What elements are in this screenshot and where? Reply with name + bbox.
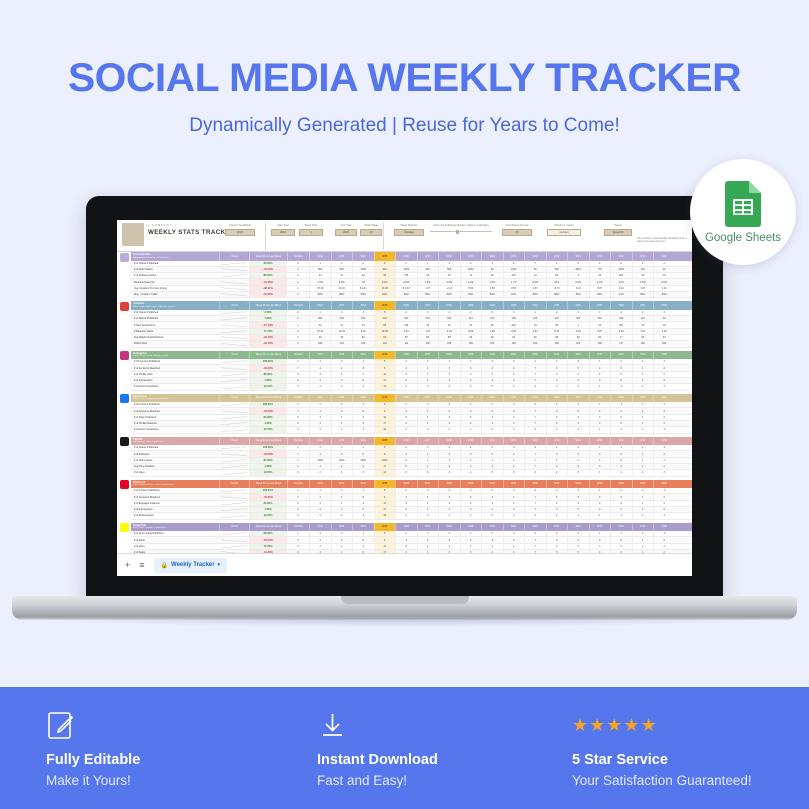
- col-header-week[interactable]: W34: [352, 394, 374, 403]
- row-week-cell[interactable]: 140: [352, 341, 374, 346]
- row-week-cell[interactable]: 3: [460, 421, 482, 426]
- row-week-cell[interactable]: 8.0%: [653, 279, 675, 284]
- row-week-cell[interactable]: 3: [460, 537, 482, 542]
- row-week-cell[interactable]: 840: [503, 273, 525, 278]
- row-week-cell[interactable]: 3: [653, 310, 675, 315]
- row-week-cell[interactable]: 1902: [503, 267, 525, 272]
- control-prior-curr-colour[interactable]: Prior/Curr Colour Current: [547, 224, 581, 236]
- row-week-cell[interactable]: 2: [331, 507, 353, 512]
- row-week-cell[interactable]: -8.73: [546, 286, 568, 291]
- row-week-cell[interactable]: 5: [481, 445, 503, 450]
- row-week-cell[interactable]: 3.10: [567, 286, 589, 291]
- row-week-cell[interactable]: 8.53: [503, 329, 525, 334]
- row-week-cell[interactable]: 80: [632, 335, 654, 340]
- row-week-cell[interactable]: 1: [352, 445, 374, 450]
- row-week-cell[interactable]: 119: [546, 316, 568, 321]
- row-week-cell[interactable]: 1: [417, 378, 439, 383]
- row-week-cell[interactable]: 5: [374, 402, 396, 407]
- row-week-cell[interactable]: 4: [610, 445, 632, 450]
- row-week-cell[interactable]: 7: [524, 451, 546, 456]
- row-week-cell[interactable]: 2: [331, 421, 353, 426]
- row-week-cell[interactable]: 4: [309, 421, 331, 426]
- col-header-week[interactable]: W35: [374, 523, 396, 532]
- col-header-week[interactable]: W40: [481, 351, 503, 360]
- row-week-cell[interactable]: 4: [610, 402, 632, 407]
- row-week-cell[interactable]: 8: [395, 501, 417, 506]
- row-week-cell[interactable]: 40: [589, 273, 611, 278]
- row-week-cell[interactable]: 2: [632, 384, 654, 389]
- row-week-cell[interactable]: 1: [417, 507, 439, 512]
- row-week-cell[interactable]: 180: [567, 341, 589, 346]
- col-header-week[interactable]: W45: [589, 523, 611, 532]
- row-week-cell[interactable]: 8: [352, 408, 374, 413]
- row-week-cell[interactable]: 7: [524, 458, 546, 463]
- row-week-cell[interactable]: 2054: [610, 267, 632, 272]
- row-week-cell[interactable]: 1: [632, 494, 654, 499]
- row-week-cell[interactable]: 7: [524, 507, 546, 512]
- row-week-cell[interactable]: 4: [438, 513, 460, 518]
- row-week-cell[interactable]: 3: [460, 507, 482, 512]
- row-week-cell[interactable]: 3: [460, 408, 482, 413]
- row-week-cell[interactable]: 2800: [352, 458, 374, 463]
- row-week-cell[interactable]: 3: [653, 488, 675, 493]
- row-week-cell[interactable]: 4: [589, 537, 611, 542]
- row-week-cell[interactable]: 4: [589, 408, 611, 413]
- row-week-cell[interactable]: 1: [309, 537, 331, 542]
- col-header-week[interactable]: W46: [610, 351, 632, 360]
- col-header-week[interactable]: W42: [524, 523, 546, 532]
- col-header-week[interactable]: W36: [395, 394, 417, 403]
- row-week-cell[interactable]: 3: [460, 372, 482, 377]
- col-header-week[interactable]: W48: [653, 480, 675, 489]
- row-week-cell[interactable]: 4: [610, 384, 632, 389]
- row-week-cell[interactable]: 1.37: [417, 286, 439, 291]
- row-week-cell[interactable]: 4: [503, 261, 525, 266]
- row-week-cell[interactable]: 3: [567, 384, 589, 389]
- row-week-cell[interactable]: 4: [589, 507, 611, 512]
- row-week-cell[interactable]: 2: [309, 359, 331, 364]
- row-week-cell[interactable]: 1: [632, 501, 654, 506]
- row-week-cell[interactable]: 2: [460, 445, 482, 450]
- row-week-cell[interactable]: 3: [546, 464, 568, 469]
- row-week-cell[interactable]: 2: [309, 445, 331, 450]
- row-week-cell[interactable]: 3: [460, 464, 482, 469]
- row-week-cell[interactable]: 1: [309, 451, 331, 456]
- row-week-cell[interactable]: 95: [331, 335, 353, 340]
- row-week-cell[interactable]: 4: [567, 273, 589, 278]
- row-week-cell[interactable]: 1: [417, 261, 439, 266]
- row-week-cell[interactable]: 3: [438, 372, 460, 377]
- col-header-week[interactable]: W33: [331, 480, 353, 489]
- row-week-cell[interactable]: 2: [460, 427, 482, 432]
- col-header-week[interactable]: W48: [653, 394, 675, 403]
- row-week-cell[interactable]: 180: [632, 341, 654, 346]
- row-week-cell[interactable]: 9.34: [610, 329, 632, 334]
- col-header-week[interactable]: W40: [481, 252, 503, 261]
- col-header-week[interactable]: W34: [352, 351, 374, 360]
- row-week-cell[interactable]: 4: [610, 310, 632, 315]
- col-header-week[interactable]: W45: [589, 394, 611, 403]
- row-week-cell[interactable]: 2: [395, 513, 417, 518]
- row-week-cell[interactable]: 44: [309, 273, 331, 278]
- row-week-cell[interactable]: 5: [567, 537, 589, 542]
- col-header-week[interactable]: W48: [653, 437, 675, 446]
- row-week-cell[interactable]: 22: [653, 316, 675, 321]
- row-week-cell[interactable]: 3: [309, 544, 331, 549]
- row-week-cell[interactable]: 2: [653, 501, 675, 506]
- row-week-cell[interactable]: 58: [374, 322, 396, 327]
- col-header-week[interactable]: W43: [546, 437, 568, 446]
- col-header-week[interactable]: W38: [438, 394, 460, 403]
- row-week-cell[interactable]: 4: [524, 513, 546, 518]
- col-header-week[interactable]: W41: [503, 351, 525, 360]
- row-week-cell[interactable]: 4: [395, 537, 417, 542]
- row-week-cell[interactable]: 5: [374, 445, 396, 450]
- row-week-cell[interactable]: 2: [653, 372, 675, 377]
- row-week-cell[interactable]: 4: [352, 261, 374, 266]
- row-week-cell[interactable]: 3: [417, 310, 439, 315]
- row-week-cell[interactable]: 4: [438, 384, 460, 389]
- row-week-cell[interactable]: 3: [438, 261, 460, 266]
- col-header-week[interactable]: W35: [374, 351, 396, 360]
- row-week-cell[interactable]: 2: [331, 537, 353, 542]
- row-week-cell[interactable]: 1: [632, 421, 654, 426]
- row-week-cell[interactable]: 3: [309, 372, 331, 377]
- row-week-cell[interactable]: 4: [481, 458, 503, 463]
- row-week-cell[interactable]: 80%: [395, 292, 417, 297]
- col-header-week[interactable]: W44: [567, 437, 589, 446]
- row-week-cell[interactable]: 4: [503, 501, 525, 506]
- row-week-cell[interactable]: 3: [503, 470, 525, 475]
- row-week-cell[interactable]: 3: [460, 544, 482, 549]
- row-week-cell[interactable]: 4: [395, 365, 417, 370]
- row-week-cell[interactable]: 1: [632, 507, 654, 512]
- col-header-week[interactable]: W34: [352, 301, 374, 310]
- row-week-cell[interactable]: 80%: [632, 292, 654, 297]
- row-week-cell[interactable]: 8.0%: [331, 279, 353, 284]
- row-week-cell[interactable]: 8: [395, 458, 417, 463]
- row-week-cell[interactable]: 208: [503, 316, 525, 321]
- row-week-cell[interactable]: 84: [653, 335, 675, 340]
- row-week-cell[interactable]: 1.5%: [632, 279, 654, 284]
- col-header-week[interactable]: W36: [395, 301, 417, 310]
- row-week-cell[interactable]: 145: [417, 341, 439, 346]
- row-week-cell[interactable]: 1: [417, 458, 439, 463]
- row-week-cell[interactable]: 4: [331, 470, 353, 475]
- row-week-cell[interactable]: 2: [460, 310, 482, 315]
- row-week-cell[interactable]: 1: [352, 488, 374, 493]
- row-week-cell[interactable]: 80: [395, 335, 417, 340]
- row-week-cell[interactable]: 3: [331, 488, 353, 493]
- col-header-week[interactable]: W47: [632, 394, 654, 403]
- row-week-cell[interactable]: 4: [309, 507, 331, 512]
- row-week-cell[interactable]: 2: [460, 470, 482, 475]
- row-week-cell[interactable]: 3: [503, 384, 525, 389]
- col-header-week[interactable]: W39: [460, 480, 482, 489]
- col-header-week[interactable]: W47: [632, 437, 654, 446]
- row-week-cell[interactable]: 89%: [309, 292, 331, 297]
- col-header-week[interactable]: W33: [331, 301, 353, 310]
- row-week-cell[interactable]: 2: [309, 384, 331, 389]
- row-week-cell[interactable]: 2: [546, 310, 568, 315]
- col-header-week[interactable]: W33: [331, 252, 353, 261]
- row-week-cell[interactable]: 1: [331, 544, 353, 549]
- row-week-cell[interactable]: 4: [610, 427, 632, 432]
- row-week-cell[interactable]: 4: [481, 451, 503, 456]
- row-week-cell[interactable]: 9: [352, 378, 374, 383]
- row-week-cell[interactable]: 3: [417, 531, 439, 536]
- row-week-cell[interactable]: 3: [460, 494, 482, 499]
- row-week-cell[interactable]: 3: [503, 488, 525, 493]
- row-week-cell[interactable]: 41: [460, 273, 482, 278]
- row-week-cell[interactable]: 1: [309, 365, 331, 370]
- row-week-cell[interactable]: 8.0.33: [395, 286, 417, 291]
- row-week-cell[interactable]: 7: [524, 464, 546, 469]
- row-week-cell[interactable]: 3: [653, 513, 675, 518]
- row-week-cell[interactable]: 3: [546, 408, 568, 413]
- row-week-cell[interactable]: 1.80: [481, 286, 503, 291]
- row-week-cell[interactable]: 17: [374, 421, 396, 426]
- row-week-cell[interactable]: 3: [460, 415, 482, 420]
- row-week-cell[interactable]: 3: [546, 378, 568, 383]
- col-header-week[interactable]: W43: [546, 394, 568, 403]
- row-week-cell[interactable]: 6: [610, 458, 632, 463]
- row-week-cell[interactable]: 5: [567, 451, 589, 456]
- row-week-cell[interactable]: 14: [374, 384, 396, 389]
- row-week-cell[interactable]: 2: [546, 402, 568, 407]
- row-week-cell[interactable]: 3: [331, 359, 353, 364]
- row-week-cell[interactable]: 17%: [610, 292, 632, 297]
- row-week-cell[interactable]: 4: [438, 359, 460, 364]
- col-header-week[interactable]: W32: [309, 252, 331, 261]
- row-week-cell[interactable]: 5: [374, 488, 396, 493]
- row-week-cell[interactable]: 1: [331, 501, 353, 506]
- row-week-cell[interactable]: 5: [567, 372, 589, 377]
- col-header-week[interactable]: W39: [460, 351, 482, 360]
- row-week-cell[interactable]: 1: [417, 494, 439, 499]
- table-row[interactable]: # of Repins/saves19.50%42431423425342314…: [131, 513, 692, 519]
- row-week-cell[interactable]: 1: [417, 372, 439, 377]
- row-week-cell[interactable]: 8: [352, 537, 374, 542]
- row-week-cell[interactable]: 4: [481, 261, 503, 266]
- row-week-cell[interactable]: 4: [481, 537, 503, 542]
- col-header-week[interactable]: W41: [503, 437, 525, 446]
- row-week-cell[interactable]: 3: [653, 531, 675, 536]
- row-week-cell[interactable]: 6: [610, 372, 632, 377]
- row-week-cell[interactable]: 144: [331, 341, 353, 346]
- col-header-week[interactable]: W45: [589, 437, 611, 446]
- row-week-cell[interactable]: 5: [567, 507, 589, 512]
- sheet-tab-weekly-tracker[interactable]: 🔒 Weekly Tracker ▾: [154, 558, 228, 573]
- row-week-cell[interactable]: 6: [374, 451, 396, 456]
- row-week-cell[interactable]: 26: [417, 322, 439, 327]
- row-week-cell[interactable]: 1: [632, 537, 654, 542]
- row-week-cell[interactable]: 1: [632, 458, 654, 463]
- col-header-week[interactable]: W38: [438, 252, 460, 261]
- row-week-cell[interactable]: 6: [610, 415, 632, 420]
- col-header-week[interactable]: W43: [546, 480, 568, 489]
- row-week-cell[interactable]: 1830: [460, 267, 482, 272]
- row-week-cell[interactable]: 2: [632, 513, 654, 518]
- col-header-week[interactable]: W46: [610, 252, 632, 261]
- row-week-cell[interactable]: 84%: [653, 292, 675, 297]
- row-week-cell[interactable]: 3: [438, 421, 460, 426]
- row-week-cell[interactable]: 8: [395, 415, 417, 420]
- row-week-cell[interactable]: 4: [395, 408, 417, 413]
- row-week-cell[interactable]: 1: [417, 537, 439, 542]
- row-week-cell[interactable]: 3: [352, 384, 374, 389]
- row-week-cell[interactable]: 6: [395, 378, 417, 383]
- row-week-cell[interactable]: 21: [331, 322, 353, 327]
- row-week-cell[interactable]: 9.0%: [374, 279, 396, 284]
- row-week-cell[interactable]: 122: [374, 341, 396, 346]
- row-week-cell[interactable]: 9.5%: [524, 279, 546, 284]
- row-week-cell[interactable]: 4: [524, 427, 546, 432]
- col-header-week[interactable]: W43: [546, 351, 568, 360]
- col-header-week[interactable]: W32: [309, 394, 331, 403]
- control-move-slider[interactable]: Move the Following Number, Stats in unde…: [430, 224, 492, 232]
- row-week-cell[interactable]: 4: [481, 378, 503, 383]
- row-week-cell[interactable]: 80: [481, 335, 503, 340]
- col-header-week[interactable]: W42: [524, 301, 546, 310]
- row-week-cell[interactable]: 901: [610, 273, 632, 278]
- row-week-cell[interactable]: 90: [309, 335, 331, 340]
- row-week-cell[interactable]: 1: [417, 421, 439, 426]
- col-header-week[interactable]: W41: [503, 301, 525, 310]
- add-sheet-icon[interactable]: +: [125, 561, 130, 570]
- row-week-cell[interactable]: 80: [524, 335, 546, 340]
- row-week-cell[interactable]: 4: [524, 384, 546, 389]
- row-week-cell[interactable]: 1: [309, 261, 331, 266]
- row-week-cell[interactable]: 3: [331, 402, 353, 407]
- row-week-cell[interactable]: 4: [589, 378, 611, 383]
- col-header-week[interactable]: W47: [632, 523, 654, 532]
- row-week-cell[interactable]: 4: [481, 372, 503, 377]
- row-week-cell[interactable]: 1: [589, 445, 611, 450]
- row-week-cell[interactable]: 3: [438, 451, 460, 456]
- row-week-cell[interactable]: 3: [546, 494, 568, 499]
- row-week-cell[interactable]: 90: [524, 267, 546, 272]
- row-week-cell[interactable]: 11: [374, 544, 396, 549]
- row-week-cell[interactable]: 2: [309, 470, 331, 475]
- row-week-cell[interactable]: 17: [374, 507, 396, 512]
- row-week-cell[interactable]: 1.5%: [417, 279, 439, 284]
- col-header-week[interactable]: W35: [374, 437, 396, 446]
- col-header-week[interactable]: W36: [395, 480, 417, 489]
- row-week-cell[interactable]: 4: [481, 365, 503, 370]
- row-week-cell[interactable]: 2: [653, 421, 675, 426]
- row-week-cell[interactable]: 3: [546, 372, 568, 377]
- row-week-cell[interactable]: 80%: [567, 292, 589, 297]
- row-week-cell[interactable]: 3.47: [632, 329, 654, 334]
- table-row[interactable]: # of Likes19.50%4243142342534231423: [131, 470, 692, 476]
- row-week-cell[interactable]: 5: [481, 513, 503, 518]
- slider-track[interactable]: [430, 231, 492, 232]
- row-week-cell[interactable]: 3: [438, 458, 460, 463]
- row-week-cell[interactable]: 3: [546, 507, 568, 512]
- col-header-week[interactable]: W45: [589, 480, 611, 489]
- row-week-cell[interactable]: 4: [481, 464, 503, 469]
- row-week-cell[interactable]: 80: [546, 273, 568, 278]
- col-header-week[interactable]: W33: [331, 523, 353, 532]
- row-week-cell[interactable]: 31: [331, 273, 353, 278]
- col-header-week[interactable]: W45: [589, 351, 611, 360]
- row-week-cell[interactable]: 3000: [331, 458, 353, 463]
- control-curr-year[interactable]: Curr Year 2024: [335, 224, 357, 236]
- row-week-cell[interactable]: 4: [524, 359, 546, 364]
- row-week-cell[interactable]: 1: [417, 451, 439, 456]
- row-week-cell[interactable]: 7: [524, 378, 546, 383]
- row-week-cell[interactable]: 81: [503, 335, 525, 340]
- row-week-cell[interactable]: 2: [331, 365, 353, 370]
- row-week-cell[interactable]: 2: [632, 470, 654, 475]
- row-week-cell[interactable]: 6: [374, 494, 396, 499]
- row-week-cell[interactable]: 5: [567, 544, 589, 549]
- row-week-cell[interactable]: 4: [309, 378, 331, 383]
- row-week-cell[interactable]: 3: [438, 408, 460, 413]
- row-week-cell[interactable]: 80: [589, 335, 611, 340]
- row-week-cell[interactable]: 180: [589, 341, 611, 346]
- col-header-week[interactable]: W32: [309, 523, 331, 532]
- col-header-week[interactable]: W40: [481, 437, 503, 446]
- row-week-cell[interactable]: 2: [653, 507, 675, 512]
- col-header-week[interactable]: W32: [309, 437, 331, 446]
- row-week-cell[interactable]: 3: [653, 402, 675, 407]
- row-week-cell[interactable]: 2: [632, 445, 654, 450]
- row-week-cell[interactable]: 2: [653, 365, 675, 370]
- row-week-cell[interactable]: 1: [352, 531, 374, 536]
- row-week-cell[interactable]: 3: [546, 537, 568, 542]
- col-header-week[interactable]: W41: [503, 252, 525, 261]
- row-week-cell[interactable]: 8: [352, 494, 374, 499]
- row-week-cell[interactable]: 80: [546, 322, 568, 327]
- row-week-cell[interactable]: 88: [546, 335, 568, 340]
- row-week-cell[interactable]: 1.4%: [460, 279, 482, 284]
- row-week-cell[interactable]: 510: [352, 316, 374, 321]
- row-week-cell[interactable]: 4: [331, 310, 353, 315]
- control-week-start[interactable]: Week Start 1: [299, 224, 323, 236]
- row-week-cell[interactable]: 41: [460, 322, 482, 327]
- row-week-cell[interactable]: 3: [417, 513, 439, 518]
- row-week-cell[interactable]: 1: [589, 359, 611, 364]
- row-week-cell[interactable]: 1: [417, 501, 439, 506]
- row-week-cell[interactable]: 4: [438, 310, 460, 315]
- row-week-cell[interactable]: 4: [481, 507, 503, 512]
- col-header-week[interactable]: W38: [438, 301, 460, 310]
- col-header-week[interactable]: W39: [460, 394, 482, 403]
- row-week-cell[interactable]: 4: [610, 531, 632, 536]
- row-week-cell[interactable]: 5: [481, 531, 503, 536]
- row-week-cell[interactable]: 59%: [460, 292, 482, 297]
- row-week-cell[interactable]: 6: [395, 464, 417, 469]
- row-week-cell[interactable]: 4: [503, 544, 525, 549]
- row-week-cell[interactable]: 201: [417, 316, 439, 321]
- row-week-cell[interactable]: 4: [589, 365, 611, 370]
- col-header-week[interactable]: W37: [417, 252, 439, 261]
- col-header-week[interactable]: W36: [395, 523, 417, 532]
- col-header-week[interactable]: W32: [309, 480, 331, 489]
- row-week-cell[interactable]: 4: [589, 458, 611, 463]
- col-header-week[interactable]: W47: [632, 480, 654, 489]
- row-week-cell[interactable]: 4: [481, 421, 503, 426]
- row-week-cell[interactable]: 2: [653, 408, 675, 413]
- col-header-week[interactable]: W40: [481, 523, 503, 532]
- row-week-cell[interactable]: 2: [309, 513, 331, 518]
- col-header-week[interactable]: W42: [524, 394, 546, 403]
- control-reset[interactable]: Preset Reset All: [604, 224, 632, 236]
- control-week-value[interactable]: Week Value 40: [360, 224, 382, 236]
- row-week-cell[interactable]: 3: [460, 365, 482, 370]
